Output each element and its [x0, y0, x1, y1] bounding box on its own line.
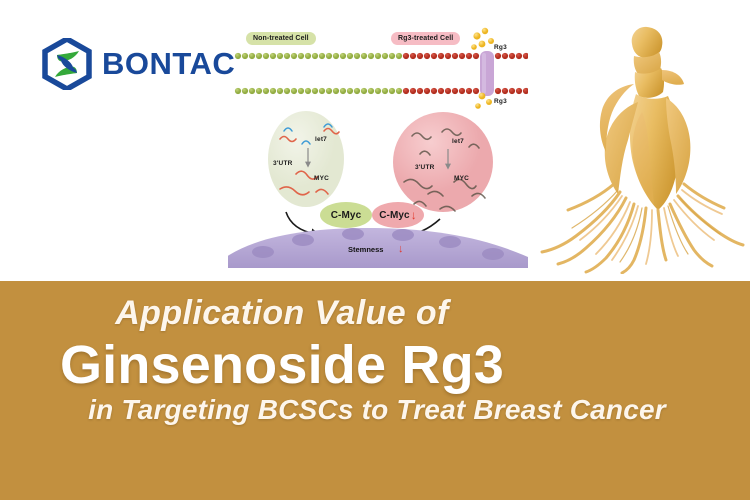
- title-block: Application Value of Ginsenoside Rg3 in …: [0, 296, 750, 496]
- label-rg3-outside: Rg3: [494, 44, 507, 51]
- badge-c-myc-right: C-Myc ↓: [372, 202, 424, 228]
- down-arrow-icon: ↓: [411, 209, 417, 221]
- label-rg3-inside: Rg3: [494, 98, 507, 105]
- label-myc-right: MYC: [454, 175, 469, 182]
- bontac-hexagon-leaf-logo-icon: [42, 38, 92, 90]
- stemness-down-arrow-icon: ↓: [398, 243, 404, 255]
- rg3-molecules-outside: [471, 28, 494, 50]
- ginseng-root-image: [534, 12, 750, 274]
- label-3utr-left: 3'UTR: [273, 160, 293, 167]
- label-stemness: Stemness: [348, 245, 383, 254]
- brand-logo[interactable]: BONTAC: [42, 38, 235, 90]
- title-line-2: Ginsenoside Rg3: [60, 338, 504, 392]
- title-line-3: in Targeting BCSCs to Treat Breast Cance…: [88, 396, 666, 424]
- label-let7-left: let7: [315, 136, 327, 143]
- badge-c-myc-left: C-Myc: [320, 202, 372, 228]
- ginseng-root-icon: [534, 12, 750, 274]
- badge-c-myc-right-label: C-Myc: [379, 210, 410, 221]
- title-line-1: Application Value of: [115, 296, 449, 330]
- badge-non-treated-cell: Non-treated Cell: [246, 32, 316, 45]
- label-myc-left: MYC: [314, 175, 329, 182]
- diagram-graphics: [228, 14, 528, 276]
- label-3utr-right: 3'UTR: [415, 164, 435, 171]
- badge-rg3-treated-cell: Rg3-treated Cell: [391, 32, 460, 45]
- badge-c-myc-left-label: C-Myc: [331, 210, 362, 221]
- left-cell-nucleus: [268, 111, 344, 207]
- right-cell-nucleus: [393, 112, 493, 212]
- banner-canvas: Application Value of Ginsenoside Rg3 in …: [0, 0, 750, 500]
- mechanism-diagram: Non-treated Cell Rg3-treated Cell Rg3 Rg…: [228, 14, 528, 276]
- label-let7-right: let7: [452, 138, 464, 145]
- brand-name: BONTAC: [102, 46, 235, 82]
